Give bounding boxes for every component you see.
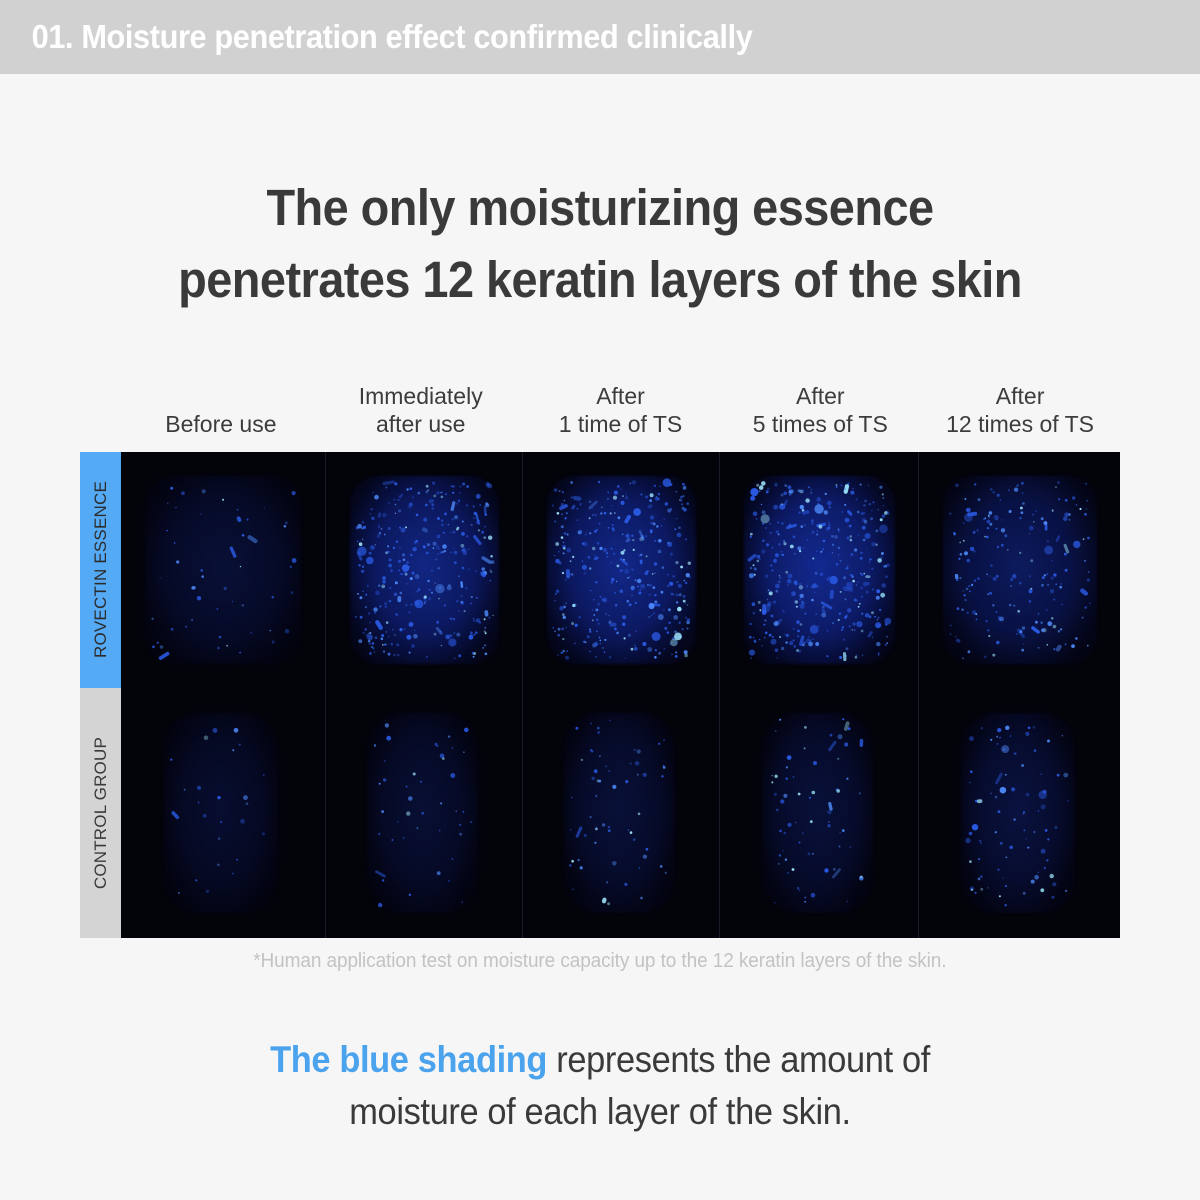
fluorescence-panel	[325, 688, 522, 938]
panel-row-control-group	[121, 688, 1120, 938]
column-header-line-2: Before use	[121, 410, 321, 438]
fluorescence-panel	[522, 688, 719, 938]
caption-line-2: moisture of each layer of the skin.	[42, 1086, 1158, 1138]
fluorescence-panel	[325, 452, 522, 688]
column-header-line-1: After	[720, 382, 920, 410]
page-title: The only moisturizing essence penetrates…	[0, 172, 1200, 316]
fluorescence-panel	[918, 688, 1120, 938]
page-root: 01. Moisture penetration effect confirme…	[0, 0, 1200, 1200]
fluorescence-speckles	[720, 452, 918, 688]
fluorescence-speckles	[121, 688, 325, 938]
image-panels	[121, 452, 1120, 938]
fluorescence-panel	[719, 452, 918, 688]
fluorescence-image-grid: ROVECTIN ESSENCE CONTROL GROUP	[80, 452, 1120, 938]
fluorescence-speckles	[121, 452, 325, 688]
caption-highlight: The blue shading	[270, 1039, 547, 1080]
row-label-text: ROVECTIN ESSENCE	[91, 481, 111, 658]
fluorescence-speckles	[326, 688, 522, 938]
fluorescence-speckles	[326, 452, 522, 688]
footnote-text: *Human application test on moisture capa…	[253, 950, 946, 973]
fluorescence-panel	[121, 452, 325, 688]
fluorescence-speckles	[523, 452, 719, 688]
fluorescence-speckles	[523, 688, 719, 938]
column-header-before-use: Before use	[121, 378, 321, 440]
column-header-after-12-times: After 12 times of TS	[920, 378, 1120, 440]
fluorescence-panel	[121, 688, 325, 938]
panel-row-rovectin-essence	[121, 452, 1120, 688]
footnote: *Human application test on moisture capa…	[0, 950, 1200, 973]
column-header-line-2: 5 times of TS	[720, 410, 920, 438]
column-header-after-5-times: After 5 times of TS	[720, 378, 920, 440]
column-headers: Before use Immediately after use After 1…	[121, 378, 1120, 440]
fluorescence-speckles	[720, 688, 918, 938]
column-header-after-1-time: After 1 time of TS	[521, 378, 721, 440]
caption-line-1: The blue shading represents the amount o…	[42, 1034, 1158, 1086]
row-label-control-group: CONTROL GROUP	[80, 688, 121, 938]
caption-line-1-rest: represents the amount of	[547, 1039, 930, 1080]
section-header-title: 01. Moisture penetration effect confirme…	[0, 18, 752, 56]
column-header-line-2: after use	[321, 410, 521, 438]
fluorescence-panel	[918, 452, 1120, 688]
column-header-line-1: Immediately	[321, 382, 521, 410]
page-title-line-1: The only moisturizing essence	[48, 172, 1152, 244]
page-title-line-2: penetrates 12 keratin layers of the skin	[48, 244, 1152, 316]
column-header-line-2: 1 time of TS	[521, 410, 721, 438]
fluorescence-speckles	[919, 688, 1120, 938]
row-label-text: CONTROL GROUP	[91, 737, 111, 889]
section-header-bar: 01. Moisture penetration effect confirme…	[0, 0, 1200, 74]
fluorescence-panel	[522, 452, 719, 688]
row-label-rovectin-essence: ROVECTIN ESSENCE	[80, 452, 121, 688]
column-header-immediately-after-use: Immediately after use	[321, 378, 521, 440]
caption: The blue shading represents the amount o…	[0, 1034, 1200, 1138]
column-header-line-2: 12 times of TS	[920, 410, 1120, 438]
column-header-line-1: After	[521, 382, 721, 410]
fluorescence-speckles	[919, 452, 1120, 688]
column-header-line-1: After	[920, 382, 1120, 410]
row-labels: ROVECTIN ESSENCE CONTROL GROUP	[80, 452, 121, 938]
fluorescence-panel	[719, 688, 918, 938]
